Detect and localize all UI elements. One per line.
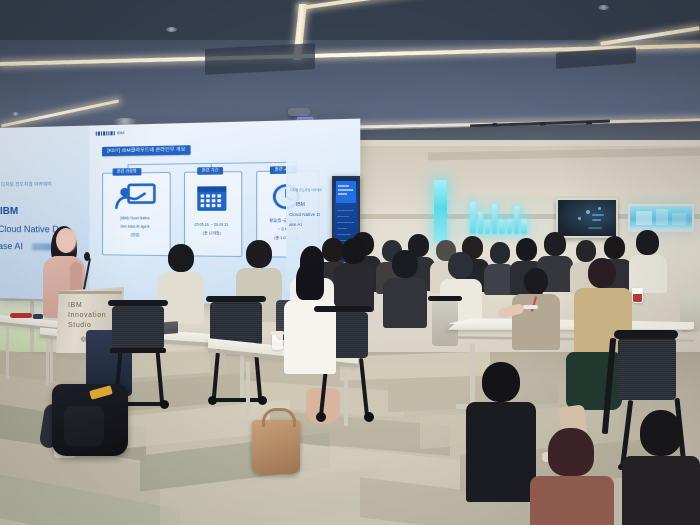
chair-caster [258, 396, 267, 405]
chair-top-rail [108, 300, 168, 306]
seminar-room-photo: ⇥ 디지털 전도지업 아카데미 IBM Cloud Native D ase A… [0, 0, 700, 525]
recessed-spot-7 [12, 112, 19, 116]
chair-back-rest[interactable] [618, 338, 676, 400]
person-head [604, 236, 625, 259]
recessed-spot-2 [598, 5, 609, 10]
person-head-cap [490, 242, 510, 264]
audience-person [392, 250, 427, 328]
signage-line [337, 228, 347, 229]
person-head [342, 238, 366, 264]
person-torso [334, 264, 374, 312]
monitor-node [598, 207, 601, 210]
slide-box-1-line-2: Dev base AI agent [102, 224, 169, 229]
signage-line [338, 193, 347, 195]
person-torso [622, 456, 700, 525]
lectern-line-2: Innovation [68, 311, 106, 321]
person-head [168, 244, 194, 272]
monitor-screen [558, 200, 616, 236]
chair-top-rail [314, 306, 372, 312]
slide-box-2-line-1: 25.05.16. ~ 26.03.31. [184, 223, 240, 228]
backpack-pocket [64, 406, 104, 446]
chair-back-rest[interactable] [112, 306, 164, 350]
audience-person [636, 230, 667, 293]
panel-line-1: Cloud Native D [289, 212, 320, 217]
recessed-spot-1 [166, 27, 177, 32]
audience-person-foreground [548, 428, 614, 525]
cup-lid [523, 305, 538, 309]
person-torso [466, 402, 536, 502]
chair-top-rail [206, 296, 266, 302]
gooseneck-microphone-head [84, 252, 90, 261]
audience-person [168, 244, 204, 324]
ibm-logo-icon [96, 131, 115, 136]
signage-line [337, 216, 349, 217]
lectern-line-1: IBM [68, 301, 82, 311]
person-head-cap [448, 252, 473, 279]
person-head [588, 258, 616, 288]
audience-person-front-center [296, 262, 336, 374]
desk-item-blue [33, 314, 43, 319]
wall-lightbox-display [628, 204, 694, 232]
monitor-bar [592, 214, 604, 216]
panel-line-2: ase AI [289, 222, 302, 227]
slide-title: [KDT] IBM클라우드네 온라인무 개요 [102, 145, 191, 156]
person-head [636, 230, 659, 255]
chair-caster [160, 400, 169, 409]
panel-brand: IBM [296, 202, 305, 208]
backpack-accent-strip [89, 385, 113, 400]
slide-box-1-line-1: [IBM] Cloud Native [102, 216, 169, 221]
presenter-face [60, 232, 76, 250]
table-leg [240, 352, 244, 400]
lectern-top-edge [58, 291, 122, 294]
audience-person-foreground [640, 410, 700, 525]
audience-person [342, 238, 374, 312]
table-leg [246, 362, 250, 416]
person-head-long-hair [296, 262, 324, 300]
signage-line [338, 185, 349, 187]
signage-line [337, 234, 351, 235]
slide-kicker: 디지털 전도지업 아카데미 [1, 181, 52, 187]
chair-caster [316, 412, 326, 422]
slide-brand: IBM [0, 206, 18, 217]
chair-caster [364, 412, 374, 422]
signage-line [337, 222, 354, 223]
person-torso [383, 278, 427, 328]
iced-coffee-cup-5 [632, 288, 643, 303]
person-torso [512, 294, 560, 350]
lightbox-block [636, 211, 652, 225]
ceiling-projector [288, 108, 310, 116]
slide-logo-text: IBM [117, 130, 125, 135]
calendar-icon [196, 184, 227, 217]
person-head [392, 250, 418, 278]
monitor-node [586, 210, 590, 214]
person-head [246, 240, 272, 268]
handbag-handle [262, 408, 296, 427]
slide-box-2-caption: 훈련 기간 [197, 167, 223, 175]
lightbox-block [672, 213, 686, 225]
panel-kicker: 디지털 전도지업 아카데미 [290, 188, 322, 192]
audience-person-foreground [482, 362, 536, 502]
teal-light-column [434, 180, 447, 242]
slide-box-1-caption: 훈련 과정명 [113, 168, 141, 176]
person-torso [158, 272, 204, 324]
signage-line [337, 210, 353, 211]
monitor-bar [592, 219, 601, 221]
person-torso [530, 476, 614, 525]
person-head [524, 268, 548, 294]
iced-coffee-cup-2 [272, 334, 283, 350]
monitor-node [578, 217, 581, 220]
table-leg [470, 344, 475, 406]
cup-contents [633, 294, 642, 302]
person-head [548, 428, 594, 476]
person-head [640, 410, 682, 456]
slide-box-2-line-2: (총 12개월) [184, 231, 240, 236]
side-table-1-leg [6, 327, 9, 379]
handbag [252, 420, 300, 474]
desk-item-red [10, 313, 32, 318]
audience-person-right [524, 268, 560, 350]
side-table-2-leg [46, 339, 49, 385]
chair-base [210, 398, 264, 402]
table-leg [344, 372, 348, 426]
chair-top-rail [428, 296, 462, 301]
chair-caster [208, 396, 217, 405]
slide-box-1-line-3: (양성) [102, 233, 169, 238]
chair-lower-rail [110, 348, 166, 353]
side-table-1-leg [50, 331, 53, 383]
slide-headline-2: ase AI [0, 241, 23, 251]
person-head [482, 362, 520, 402]
chair-top-rail [614, 330, 678, 339]
presentation-board-icon [115, 183, 158, 218]
lightbox-block [656, 209, 668, 225]
signage-line [338, 189, 353, 191]
slide-logo: IBM [96, 130, 125, 136]
person-head [544, 232, 566, 256]
backpack [52, 384, 128, 456]
cup-lid [271, 331, 284, 335]
monitor-bar [588, 227, 602, 229]
person-head [516, 238, 537, 261]
slide-headline-1: Cloud Native D [0, 224, 59, 234]
